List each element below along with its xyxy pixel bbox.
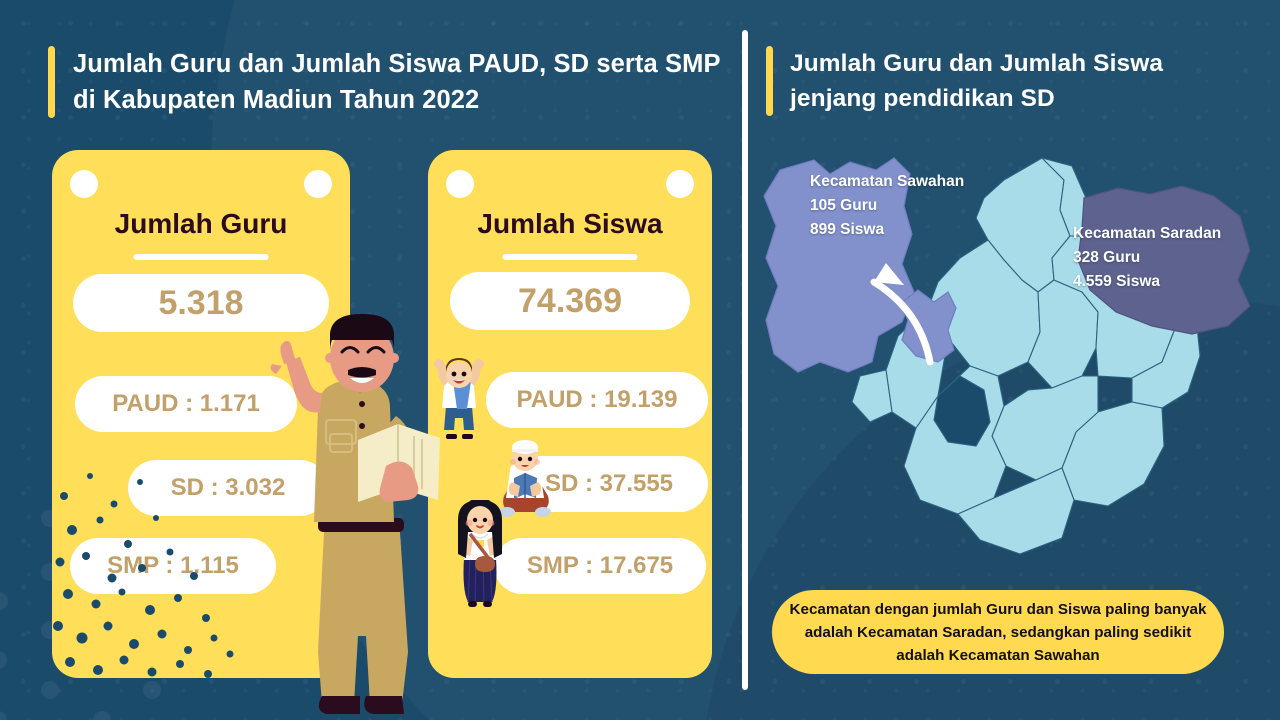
card-title-underline xyxy=(134,254,269,260)
annotation-teachers: 105 Guru xyxy=(810,194,964,218)
stat-total-siswa: 74.369 xyxy=(450,272,690,330)
map-annotation-saradan: Kecamatan Saradan 328 Guru 4.559 Siswa xyxy=(1073,222,1221,294)
card-punch-hole-left xyxy=(446,170,474,198)
annotation-students: 899 Siswa xyxy=(810,218,964,242)
title-accent-bar xyxy=(48,46,55,118)
stat-siswa-smp: SMP : 17.675 xyxy=(494,538,706,594)
card-punch-hole-right xyxy=(666,170,694,198)
summary-note-box: Kecamatan dengan jumlah Guru dan Siswa p… xyxy=(772,590,1224,674)
annotation-teachers: 328 Guru xyxy=(1073,246,1221,270)
stat-guru-smp: SMP : 1.115 xyxy=(70,538,276,594)
right-panel-title: Jumlah Guru dan Jumlah Siswa jenjang pen… xyxy=(790,46,1236,116)
annotation-district-name: Kecamatan Saradan xyxy=(1073,222,1221,246)
map-annotation-sawahan: Kecamatan Sawahan 105 Guru 899 Siswa xyxy=(810,170,964,242)
title-accent-bar xyxy=(766,46,773,116)
left-panel-title: Jumlah Guru dan Jumlah Siswa PAUD, SD se… xyxy=(73,46,728,118)
left-panel-title-block: Jumlah Guru dan Jumlah Siswa PAUD, SD se… xyxy=(48,46,728,118)
annotation-district-name: Kecamatan Sawahan xyxy=(810,170,964,194)
card-title-guru: Jumlah Guru xyxy=(52,208,350,240)
card-title-siswa: Jumlah Siswa xyxy=(428,208,712,240)
right-panel-title-block: Jumlah Guru dan Jumlah Siswa jenjang pen… xyxy=(766,46,1236,116)
annotation-students: 4.559 Siswa xyxy=(1073,270,1221,294)
card-title-underline xyxy=(503,254,638,260)
card-punch-hole-right xyxy=(304,170,332,198)
left-panel: Jumlah Guru dan Jumlah Siswa PAUD, SD se… xyxy=(0,0,745,720)
card-punch-hole-left xyxy=(70,170,98,198)
student-cheering-illustration xyxy=(428,358,490,450)
stat-siswa-paud: PAUD : 19.139 xyxy=(486,372,708,428)
student-girl-illustration xyxy=(452,500,508,612)
